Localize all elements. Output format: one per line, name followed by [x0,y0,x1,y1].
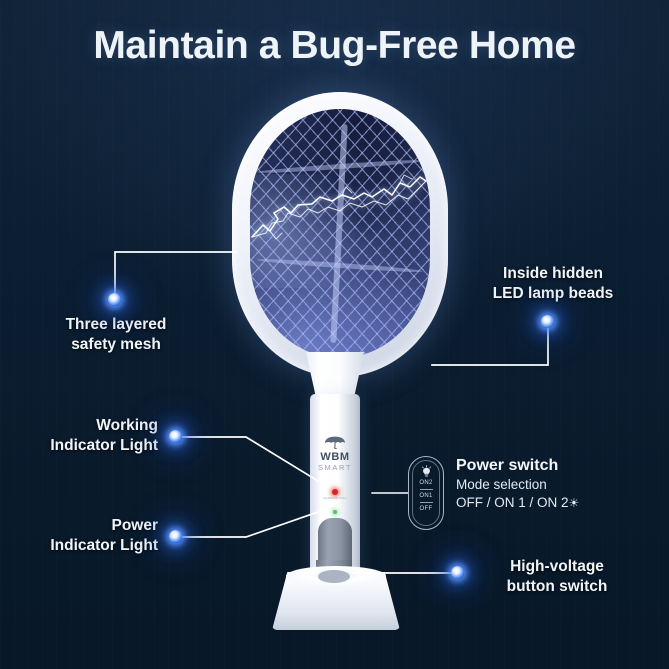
marker-dot-working-indicator[interactable] [169,430,182,443]
marker-dot-high-voltage[interactable] [451,566,464,579]
racket-mesh [250,109,430,358]
marker-dot-mesh[interactable] [108,293,121,306]
light-bulb-icon [420,465,433,478]
switch-position-off: OFF [420,506,433,512]
marker-dot-led-beads[interactable] [541,315,554,328]
power-switch-diagram[interactable]: ON2 ON1 OFF [408,456,444,530]
racket-handle: WBM SMART CHARGING FULL [310,394,360,576]
switch-divider-2 [420,502,433,503]
racket-neck [302,352,368,400]
power-indicator-led [332,489,338,495]
product-illustration: WBM SMART CHARGING FULL [0,0,669,669]
switch-position-on2: ON2 [419,480,432,486]
racket-head [232,92,448,377]
brand-logo: WBM SMART [310,436,360,472]
switch-divider-1 [420,489,433,490]
umbrella-icon [324,436,346,449]
working-indicator-led-1 [333,510,337,514]
electric-arc-icon [250,109,430,358]
brand-subname: SMART [310,464,360,472]
power-switch-track: ON2 ON1 OFF [412,460,440,526]
brand-name: WBM [310,452,360,463]
indicator-caption: CHARGING FULL [323,497,347,500]
switch-position-on1: ON1 [419,493,432,499]
marker-dot-power-indicator[interactable] [169,530,182,543]
charging-base-slot [318,570,350,583]
infographic-canvas: Maintain a Bug-Free Home [0,0,669,669]
